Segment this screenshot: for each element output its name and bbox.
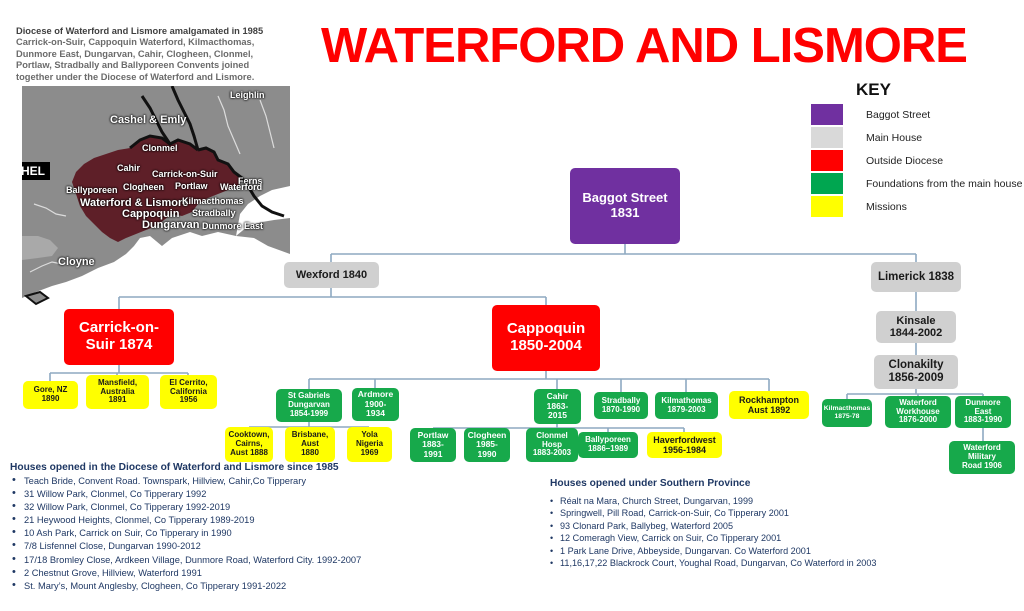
tree-node-label: Portlaw1883-1991 <box>418 431 449 460</box>
footer-left: Houses opened in the Diocese of Waterfor… <box>10 462 430 593</box>
footer-left-item: Teach Bride, Convent Road. Townspark, Hi… <box>10 475 430 488</box>
tree-node-gore[interactable]: Gore, NZ1890 <box>23 381 78 409</box>
footer-right-item: 1 Park Lane Drive, Abbeyside, Dungarvan.… <box>550 545 950 557</box>
intro-lead-text: Diocese of Waterford and Lismore amalgam… <box>16 26 263 36</box>
tree-node-dunmore[interactable]: DunmoreEast1883-1990 <box>955 396 1011 428</box>
tree-node-cappoquin[interactable]: Cappoquin1850-2004 <box>492 305 600 371</box>
tree-node-label: Kinsale1844-2002 <box>890 315 943 340</box>
tree-node-military[interactable]: WaterfordMilitaryRoad 1906 <box>949 441 1015 474</box>
footer-right-item: Springwell, Pill Road, Carrick-on-Suir, … <box>550 507 950 519</box>
infographic-canvas: Diocese of Waterford and Lismore amalgam… <box>0 0 1024 611</box>
key-row: Foundations from the main house <box>811 173 1022 194</box>
diocese-map: HEL Cashel & EmlyLeighlinClonmelCahirCar… <box>22 86 290 324</box>
tree-node-clonakilty[interactable]: Clonakilty1856-2009 <box>874 355 958 389</box>
tree-node-cahir[interactable]: Cahir1863-2015 <box>534 389 581 424</box>
tree-node-carrick[interactable]: Carrick-on-Suir 1874 <box>64 309 174 365</box>
tree-node-workhouse[interactable]: WaterfordWorkhouse1876-2000 <box>885 396 951 428</box>
tree-node-label: WaterfordMilitaryRoad 1906 <box>962 444 1002 471</box>
map-graphic <box>22 86 290 324</box>
intro-body-text: Carrick-on-Suir, Cappoquin Waterford, Ki… <box>16 37 254 81</box>
tree-node-label: Cahir1863-2015 <box>547 392 569 421</box>
tree-node-label: Ballyporeen1886–1989 <box>585 436 631 454</box>
key-row: Baggot Street <box>811 104 930 125</box>
tree-node-label: Wexford 1840 <box>296 269 367 281</box>
tree-node-label: Cappoquin1850-2004 <box>507 321 585 355</box>
tree-node-label: Cooktown, Cairns, Aust 1888 <box>227 431 271 458</box>
tree-node-elcerrito[interactable]: El Cerrito,California1956 <box>160 375 217 409</box>
footer-left-item: 17/18 Bromley Close, Ardkeen Village, Du… <box>10 554 430 567</box>
footer-left-item: 2 Chestnut Grove, Hillview, Waterford 19… <box>10 567 430 580</box>
tree-node-yola[interactable]: YolaNigeria1969 <box>347 427 392 462</box>
tree-node-kilmathomas[interactable]: Kilmathomas1879-2003 <box>655 392 718 419</box>
tree-node-clonmelhosp[interactable]: ClonmelHosp1883-2003 <box>526 428 578 462</box>
tree-node-baggot[interactable]: Baggot Street1831 <box>570 168 680 244</box>
key-row: Main House <box>811 127 922 148</box>
key-label: Foundations from the main house <box>866 178 1022 190</box>
footer-right-title: Houses opened under Southern Province <box>550 478 950 489</box>
footer-right-item: Réalt na Mara, Church Street, Dungarvan,… <box>550 495 950 507</box>
tree-node-label: Clonakilty1856-2009 <box>889 359 944 385</box>
page-title: WATERFORD AND LISMORE <box>272 18 1016 74</box>
tree-node-stgabriels[interactable]: St GabrielsDungarvan1854-1999 <box>276 389 342 422</box>
footer-right: Houses opened under Southern Province Ré… <box>550 478 950 569</box>
tree-node-label: Stradbally1870-1990 <box>602 397 641 415</box>
intro-paragraph: Diocese of Waterford and Lismore amalgam… <box>16 26 274 83</box>
footer-right-item: 11,16,17,22 Blackrock Court, Youghal Roa… <box>550 557 890 569</box>
key-row: Missions <box>811 196 907 217</box>
key-swatch <box>811 173 843 194</box>
tree-node-kilmacthomas2[interactable]: Kilmacthomas 1875-78 <box>822 399 872 427</box>
key-title: KEY <box>856 80 891 100</box>
footer-left-item: 21 Heywood Heights, Clonmel, Co Tipperar… <box>10 514 430 527</box>
tree-node-clogheen[interactable]: Clogheen1985-1990 <box>464 428 510 462</box>
tree-node-label: Carrick-on-Suir 1874 <box>79 320 159 354</box>
tree-node-label: Kilmacthomas 1875-78 <box>824 405 870 420</box>
key-swatch <box>811 196 843 217</box>
footer-left-item: St. Mary’s, Mount Anglesby, Clogheen, Co… <box>10 580 430 593</box>
tree-node-label: Baggot Street1831 <box>582 191 667 220</box>
key-label: Baggot Street <box>866 109 930 121</box>
footer-right-item: 12 Comeragh View, Carrick on Suir, Co Ti… <box>550 532 950 544</box>
key-row: Outside Diocese <box>811 150 943 171</box>
key-label: Missions <box>866 201 907 213</box>
footer-left-title: Houses opened in the Diocese of Waterfor… <box>10 462 430 473</box>
tree-node-label: St GabrielsDungarvan1854-1999 <box>288 392 330 419</box>
tree-node-label: Gore, NZ1890 <box>34 386 68 404</box>
tree-node-cooktown[interactable]: Cooktown, Cairns, Aust 1888 <box>225 427 273 462</box>
tree-node-label: RockhamptonAust 1892 <box>739 395 799 415</box>
tree-node-rockhampton[interactable]: RockhamptonAust 1892 <box>729 391 809 419</box>
tree-node-label: El Cerrito,California1956 <box>169 379 207 406</box>
tree-node-ardmore[interactable]: Ardmore1900-1934 <box>352 388 399 421</box>
tree-node-ballyporeen[interactable]: Ballyporeen1886–1989 <box>578 432 638 458</box>
tree-node-label: Ardmore1900-1934 <box>358 390 393 419</box>
tree-node-label: Kilmathomas1879-2003 <box>661 397 711 415</box>
tree-node-label: WaterfordWorkhouse1876-2000 <box>896 399 939 426</box>
tree-node-mansfield[interactable]: Mansfield,Australia1891 <box>86 375 149 409</box>
tree-node-stradbally[interactable]: Stradbally1870-1990 <box>594 392 648 419</box>
tree-node-label: Mansfield,Australia1891 <box>98 379 137 406</box>
key-label: Main House <box>866 132 922 144</box>
footer-right-item: 93 Clonard Park, Ballybeg, Waterford 200… <box>550 520 950 532</box>
footer-left-item: 7/8 Lisfennel Close, Dungarvan 1990-2012 <box>10 540 430 553</box>
tree-node-label: Brisbane,Aust1880 <box>292 431 328 458</box>
footer-left-list: Teach Bride, Convent Road. Townspark, Hi… <box>10 475 430 593</box>
tree-node-limerick[interactable]: Limerick 1838 <box>871 262 961 292</box>
tree-node-label: Limerick 1838 <box>878 271 954 284</box>
tree-node-portlaw[interactable]: Portlaw1883-1991 <box>410 428 456 462</box>
footer-left-item: 10 Ash Park, Carrick on Suir, Co Tippera… <box>10 527 430 540</box>
tree-node-label: YolaNigeria1969 <box>356 431 383 458</box>
footer-right-list: Réalt na Mara, Church Street, Dungarvan,… <box>550 495 950 569</box>
tree-node-kinsale[interactable]: Kinsale1844-2002 <box>876 311 956 343</box>
tree-node-wexford[interactable]: Wexford 1840 <box>284 262 379 288</box>
tree-node-label: Haverfordwest1956-1984 <box>653 435 716 455</box>
footer-left-item: 32 Willow Park, Clonmel, Co Tipperary 19… <box>10 501 430 514</box>
tree-node-label: ClonmelHosp1883-2003 <box>533 432 571 459</box>
key-swatch <box>811 150 843 171</box>
tree-node-brisbane[interactable]: Brisbane,Aust1880 <box>285 427 335 462</box>
footer-left-item: 31 Willow Park, Clonmel, Co Tipperary 19… <box>10 488 430 501</box>
tree-node-label: DunmoreEast1883-1990 <box>964 399 1002 426</box>
key-swatch <box>811 104 843 125</box>
key-label: Outside Diocese <box>866 155 943 167</box>
tree-node-label: Clogheen1985-1990 <box>468 431 507 460</box>
tree-node-haverford[interactable]: Haverfordwest1956-1984 <box>647 432 722 458</box>
map-tag-label: HEL <box>22 162 50 180</box>
key-swatch <box>811 127 843 148</box>
